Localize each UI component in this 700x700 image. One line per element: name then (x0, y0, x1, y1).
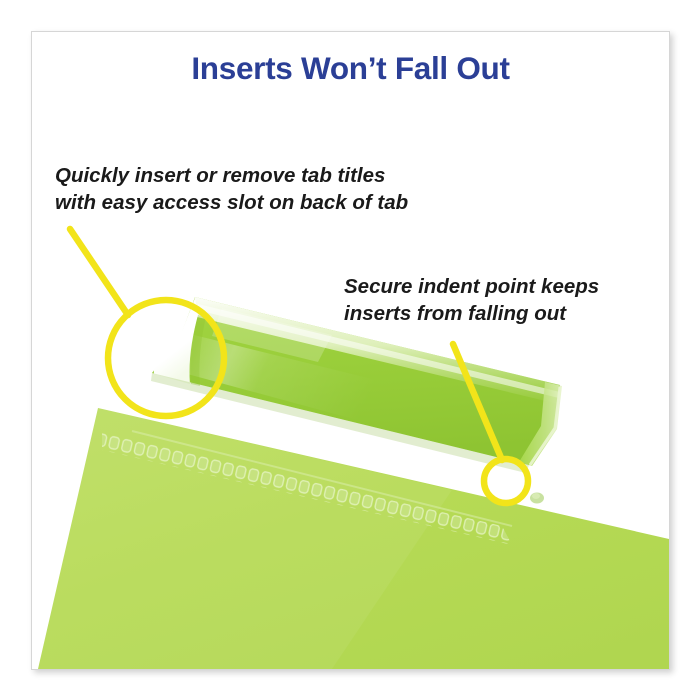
callout-left-text: Quickly insert or remove tab titles with… (55, 162, 408, 217)
page-title: Inserts Won’t Fall Out (32, 50, 669, 87)
callout-right-line-2: inserts from falling out (344, 300, 599, 327)
screenshot-canvas: Inserts Won’t Fall Out Quickly insert or… (0, 0, 700, 700)
product-photo-svg (32, 32, 669, 669)
product-photo (32, 32, 669, 669)
callout-left-line-2: with easy access slot on back of tab (55, 189, 408, 216)
photo-frame: Inserts Won’t Fall Out Quickly insert or… (31, 31, 670, 670)
callout-left-line-1: Quickly insert or remove tab titles (55, 162, 408, 189)
secure-indent-highlight (532, 493, 540, 499)
callout-right-line-1: Secure indent point keeps (344, 273, 599, 300)
callout-right-text: Secure indent point keeps inserts from f… (344, 273, 599, 328)
